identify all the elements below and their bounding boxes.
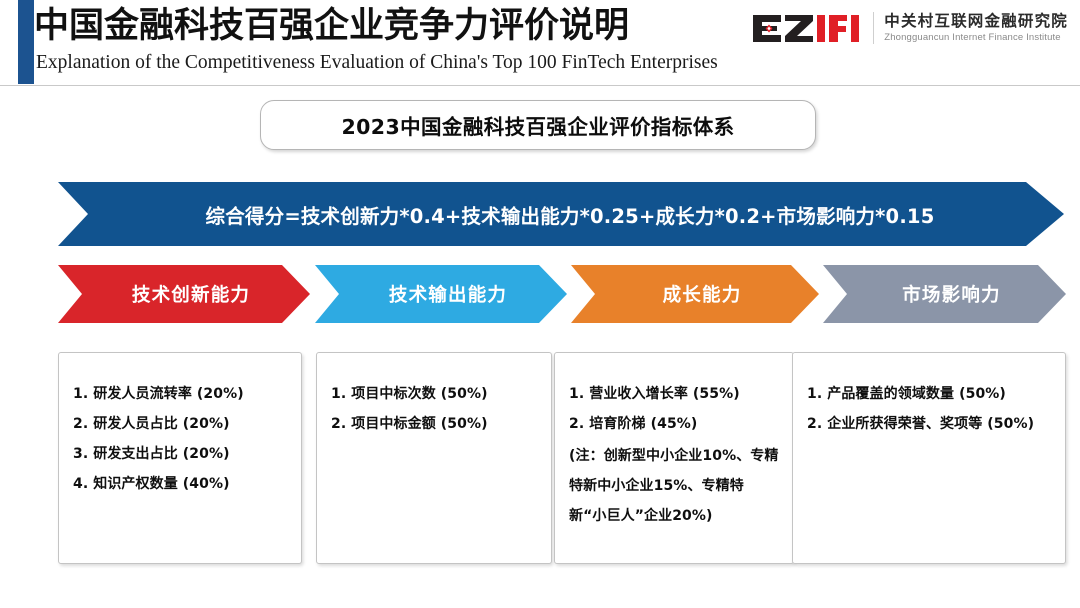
header-title-block: 中国金融科技百强企业竞争力评价说明 Explanation of the Com… [34,2,734,76]
logo-divider [873,12,874,44]
category-arrow-3[interactable]: 成长能力 [571,265,819,323]
page-header: 中国金融科技百强企业竞争力评价说明 Explanation of the Com… [0,0,1080,86]
czifi-logo-icon [751,13,863,43]
detail-item: 1. 营业收入增长率 (55%) [569,379,779,409]
detail-item: 2. 培育阶梯 (45%) [569,409,779,439]
institute-logo: 中关村互联网金融研究院 Zhongguancun Internet Financ… [751,8,1068,48]
logo-text-block: 中关村互联网金融研究院 Zhongguancun Internet Financ… [884,14,1068,43]
category-arrow-2[interactable]: 技术输出能力 [315,265,567,323]
category-arrow-1[interactable]: 技术创新能力 [58,265,310,323]
header-accent-bar [18,0,34,84]
detail-item: 2. 研发人员占比 (20%) [73,409,287,439]
detail-item: 1. 项目中标次数 (50%) [331,379,537,409]
detail-box-2: 1. 项目中标次数 (50%)2. 项目中标金额 (50%) [316,352,552,564]
detail-note: (注：创新型中小企业10%、专精特新中小企业15%、专精特新“小巨人”企业20%… [569,441,779,531]
page-title: 中国金融科技百强企业竞争力评价说明 [34,2,734,50]
composite-score-formula-banner: 综合得分=技术创新力*0.4+技术输出能力*0.25+成长力*0.2+市场影响力… [58,182,1064,246]
indicator-system-title: 2023中国金融科技百强企业评价指标体系 [341,110,734,140]
indicator-system-title-box: 2023中国金融科技百强企业评价指标体系 [260,100,816,150]
category-arrow-label: 技术创新能力 [118,281,250,307]
logo-name-en: Zhongguancun Internet Finance Institute [884,33,1068,43]
category-arrow-label: 成长能力 [649,281,742,307]
detail-item: 2. 企业所获得荣誉、奖项等 (50%) [807,409,1051,439]
detail-box-4: 1. 产品覆盖的领域数量 (50%)2. 企业所获得荣誉、奖项等 (50%) [792,352,1066,564]
detail-box-1: 1. 研发人员流转率 (20%)2. 研发人员占比 (20%)3. 研发支出占比… [58,352,302,564]
detail-item: 3. 研发支出占比 (20%) [73,439,287,469]
detail-item: 1. 产品覆盖的领域数量 (50%) [807,379,1051,409]
category-arrow-label: 技术输出能力 [375,281,507,307]
category-arrow-4[interactable]: 市场影响力 [823,265,1066,323]
logo-name-cn: 中关村互联网金融研究院 [884,14,1068,30]
detail-item: 2. 项目中标金额 (50%) [331,409,537,439]
page-subtitle: Explanation of the Competitiveness Evalu… [34,50,734,76]
detail-item: 4. 知识产权数量 (40%) [73,469,287,499]
detail-item: 1. 研发人员流转率 (20%) [73,379,287,409]
category-arrow-label: 市场影响力 [888,281,1001,307]
formula-text: 综合得分=技术创新力*0.4+技术输出能力*0.25+成长力*0.2+市场影响力… [58,182,1064,246]
detail-box-row: 1. 研发人员流转率 (20%)2. 研发人员占比 (20%)3. 研发支出占比… [58,352,1066,564]
header-divider [0,85,1080,86]
detail-box-3: 1. 营业收入增长率 (55%)2. 培育阶梯 (45%)(注：创新型中小企业1… [554,352,794,564]
category-arrow-row: 技术创新能力技术输出能力成长能力市场影响力 [58,265,1066,323]
